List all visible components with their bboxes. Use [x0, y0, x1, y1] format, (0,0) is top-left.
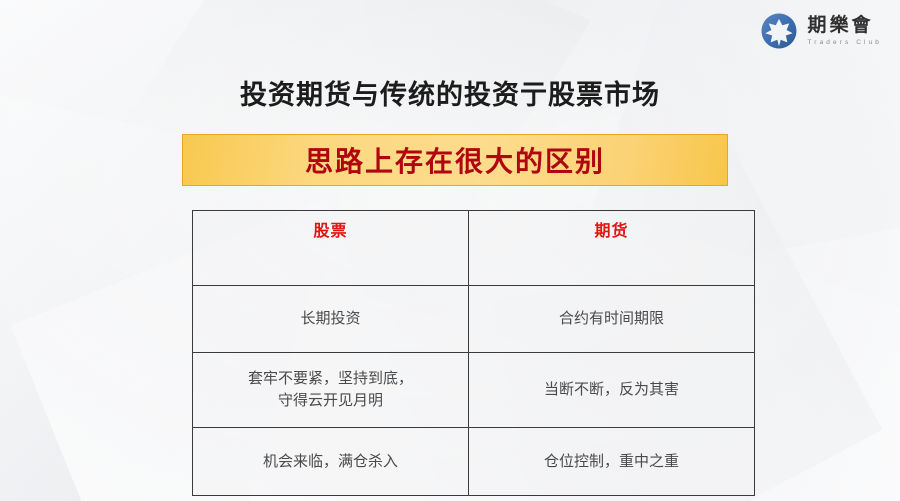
logo-wordmark: 期樂會 Traders Club — [807, 16, 882, 47]
table-header-futures: 期货 — [469, 211, 755, 286]
cell-stock-1: 长期投资 — [193, 286, 469, 353]
comparison-table: 股票 期货 长期投资 合约有时间期限 套牢不要紧，坚持到底， 守得云开见月明 当… — [192, 210, 755, 496]
highlight-banner: 思路上存在很大的区别 — [182, 134, 728, 186]
table-header-stock: 股票 — [193, 211, 469, 286]
brand-logo: 期樂會 Traders Club — [760, 12, 882, 50]
table-header-row: 股票 期货 — [193, 211, 755, 286]
table-row: 套牢不要紧，坚持到底， 守得云开见月明 当断不断，反为其害 — [193, 353, 755, 428]
table-row: 机会来临，满仓杀入 仓位控制，重中之重 — [193, 428, 755, 496]
cell-stock-3: 机会来临，满仓杀入 — [193, 428, 469, 496]
highlight-banner-text: 思路上存在很大的区别 — [305, 140, 605, 180]
table-row: 长期投资 合约有时间期限 — [193, 286, 755, 353]
cell-futures-1: 合约有时间期限 — [469, 286, 755, 353]
logo-name-cn: 期樂會 — [807, 16, 882, 35]
slide-title: 投资期货与传统的投资亍股票市场 — [0, 73, 900, 112]
cell-futures-2: 当断不断，反为其害 — [469, 353, 755, 428]
cell-stock-2: 套牢不要紧，坚持到底， 守得云开见月明 — [193, 353, 469, 428]
eight-point-star-emblem-icon — [760, 12, 798, 50]
logo-name-en: Traders Club — [807, 40, 882, 47]
cell-futures-3: 仓位控制，重中之重 — [469, 428, 755, 496]
presentation-slide: 期樂會 Traders Club 投资期货与传统的投资亍股票市场 思路上存在很大… — [0, 0, 900, 501]
